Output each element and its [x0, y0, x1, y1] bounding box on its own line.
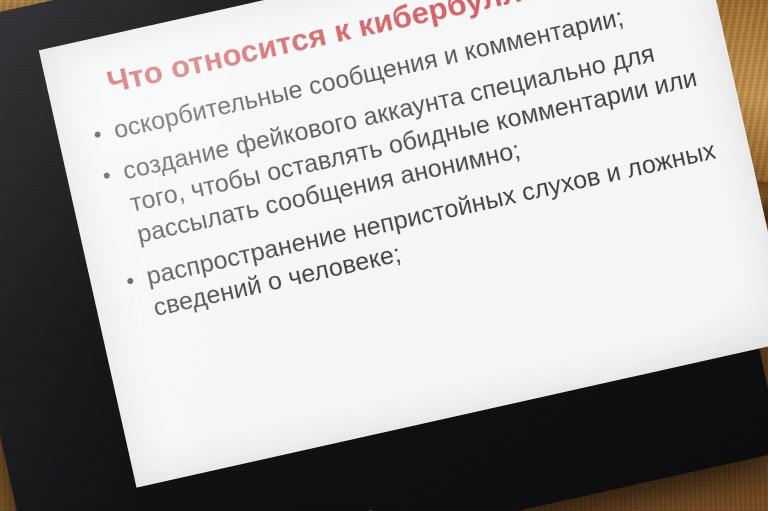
photo-scene: Что относится к кибербуллингу? оскорбите…: [0, 0, 768, 511]
philips-monitor[interactable]: Что относится к кибербуллингу? оскорбите…: [0, 0, 768, 511]
